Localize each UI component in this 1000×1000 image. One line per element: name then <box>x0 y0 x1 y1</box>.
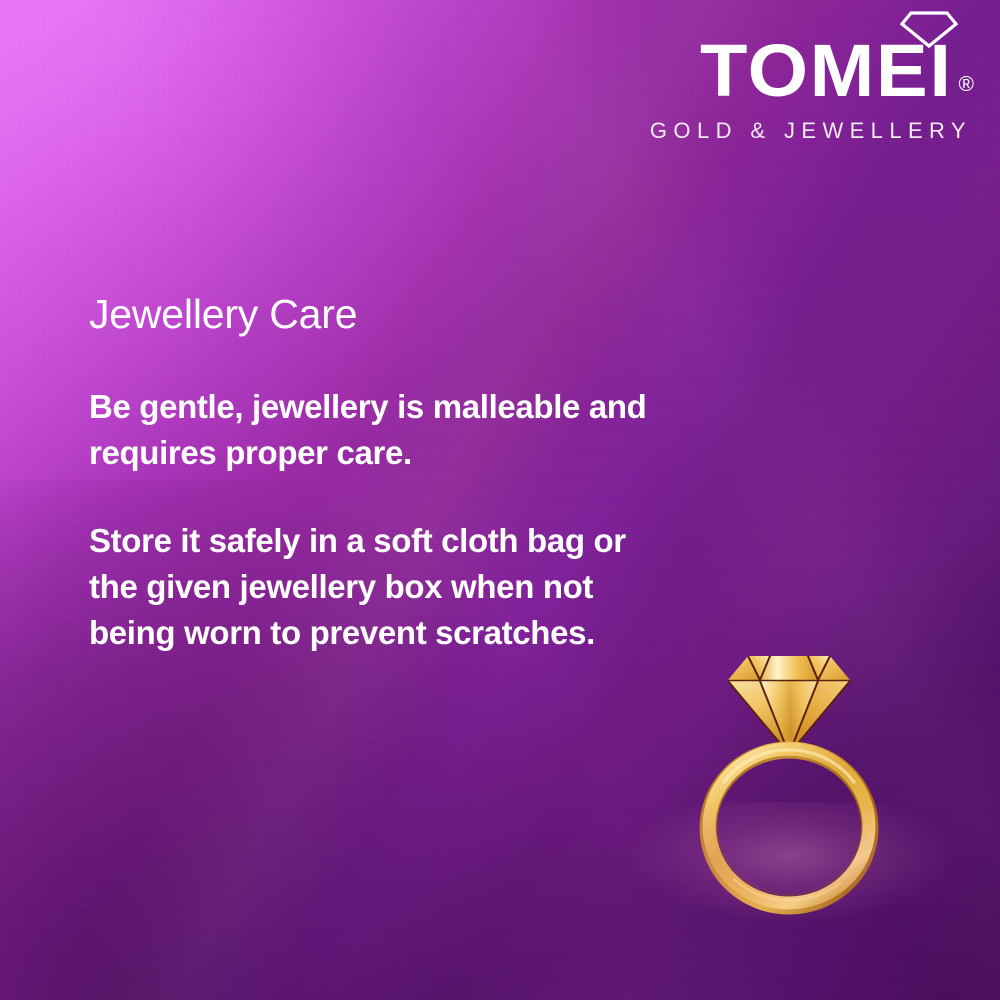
registered-trademark-icon: ® <box>959 74 974 103</box>
care-paragraph-2: Store it safely in a soft cloth bag or t… <box>89 518 649 656</box>
logo-wordmark: TOMEI <box>700 39 953 103</box>
logo-tagline: GOLD & JEWELLERY <box>650 118 972 144</box>
care-content: Jewellery Care Be gentle, jewellery is m… <box>89 292 689 656</box>
poster-canvas: TOMEI ® GOLD & JEWELLERY Jewellery Care … <box>0 0 1000 1000</box>
diamond-gem <box>728 656 850 754</box>
diamond-ring-svg <box>690 636 890 916</box>
diamond-ring-illustration <box>690 636 890 916</box>
page-title: Jewellery Care <box>89 292 689 336</box>
gold-band <box>708 749 870 906</box>
care-paragraph-1: Be gentle, jewellery is malleable and re… <box>89 384 649 476</box>
logo-wordmark-row: TOMEI ® <box>712 39 974 103</box>
